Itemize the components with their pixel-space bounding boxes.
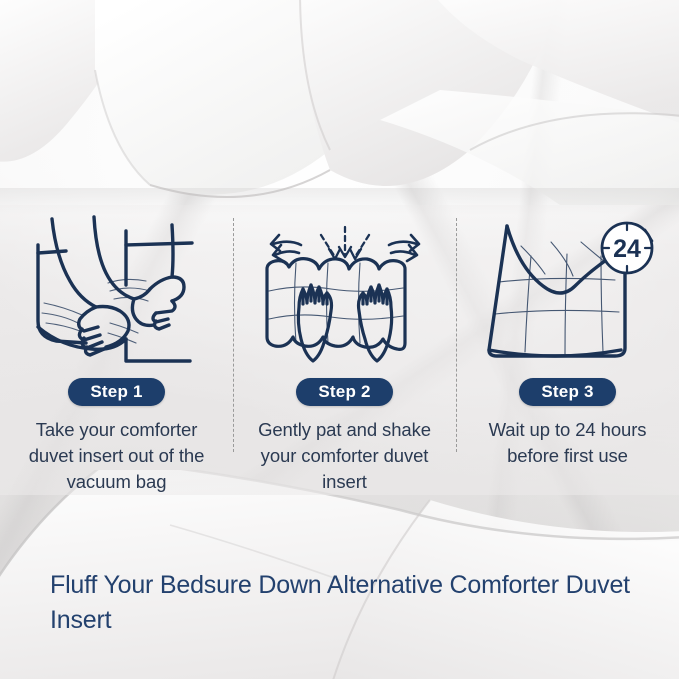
comforter-photo-top-folds bbox=[0, 0, 679, 215]
step-3-pill: Step 3 bbox=[519, 378, 615, 406]
quilted-comforter-outline bbox=[267, 259, 405, 350]
24-hour-badge: 24 bbox=[602, 223, 652, 273]
step-2-pill: Step 2 bbox=[296, 378, 392, 406]
inward-dashed-arrows bbox=[321, 227, 369, 257]
step-1: Step 1 Take your comforter duvet insert … bbox=[0, 210, 233, 495]
step-2-caption: Gently pat and shake your comforter duve… bbox=[243, 417, 446, 495]
page-title: Fluff Your Bedsure Down Alternative Comf… bbox=[50, 568, 650, 638]
step-1-illustration-wrap bbox=[22, 210, 212, 370]
step-3-caption: Wait up to 24 hours before first use bbox=[466, 417, 669, 469]
steps-row: Step 1 Take your comforter duvet insert … bbox=[0, 210, 679, 495]
infographic-page: Step 1 Take your comforter duvet insert … bbox=[0, 0, 679, 679]
badge-hours-label: 24 bbox=[613, 235, 641, 263]
step-3: 24 Step 3 Wait up to 24 hours before fir… bbox=[456, 210, 679, 469]
hands-pulling-comforter-icon bbox=[22, 211, 212, 369]
step-3-illustration-wrap: 24 bbox=[475, 210, 660, 370]
hands-patting-comforter-icon bbox=[255, 211, 435, 369]
step-2-illustration-wrap bbox=[255, 210, 435, 370]
step-1-caption: Take your comforter duvet insert out of … bbox=[12, 417, 221, 495]
step-2: Step 2 Gently pat and shake your comfort… bbox=[233, 210, 456, 495]
step-1-pill: Step 1 bbox=[68, 378, 164, 406]
folded-comforter-with-clock-icon: 24 bbox=[475, 210, 660, 370]
patting-hands bbox=[298, 285, 391, 361]
quilt-grid-lines bbox=[495, 242, 619, 354]
